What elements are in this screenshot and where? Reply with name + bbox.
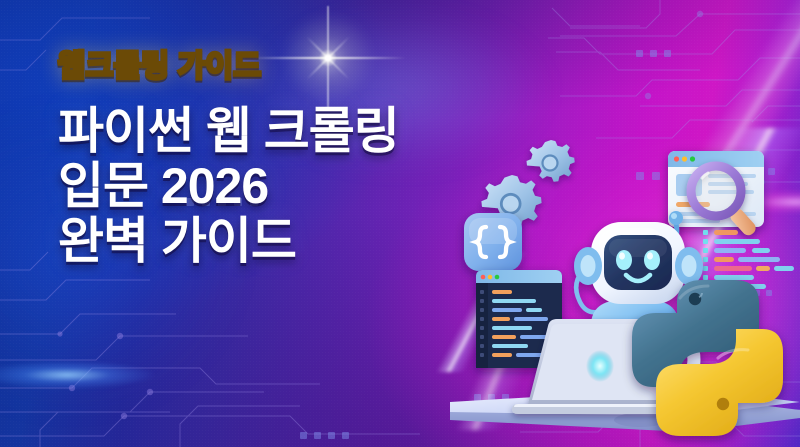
title-line-3: 완벽 가이드 [58,214,528,269]
title-line-2: 입문 2026 [58,159,528,214]
editor-dot-yellow [488,275,493,280]
laptop-logo [586,350,614,382]
banner-subtitle: 웹크롤링 가이드 [58,52,261,82]
gear-small-icon [527,140,575,182]
title-line-1: 파이썬 웹 크롤링 [58,104,528,159]
robot-eye-right [644,250,660,270]
page-title: 파이썬 웹 크롤링 입문 2026 완벽 가이드 [58,104,528,269]
browser-dot-green [690,156,695,161]
browser-dot-yellow [682,156,687,161]
text-block: 웹크롤링 가이드 파이썬 웹 크롤링 입문 2026 완벽 가이드 [58,52,528,269]
editor-dot-red [481,275,486,280]
banner-root: 웹크롤링 가이드 파이썬 웹 크롤링 입문 2026 완벽 가이드 [0,0,800,447]
robot-eye-left [616,250,632,270]
browser-dot-red [674,156,679,161]
editor-dot-green [495,275,500,280]
